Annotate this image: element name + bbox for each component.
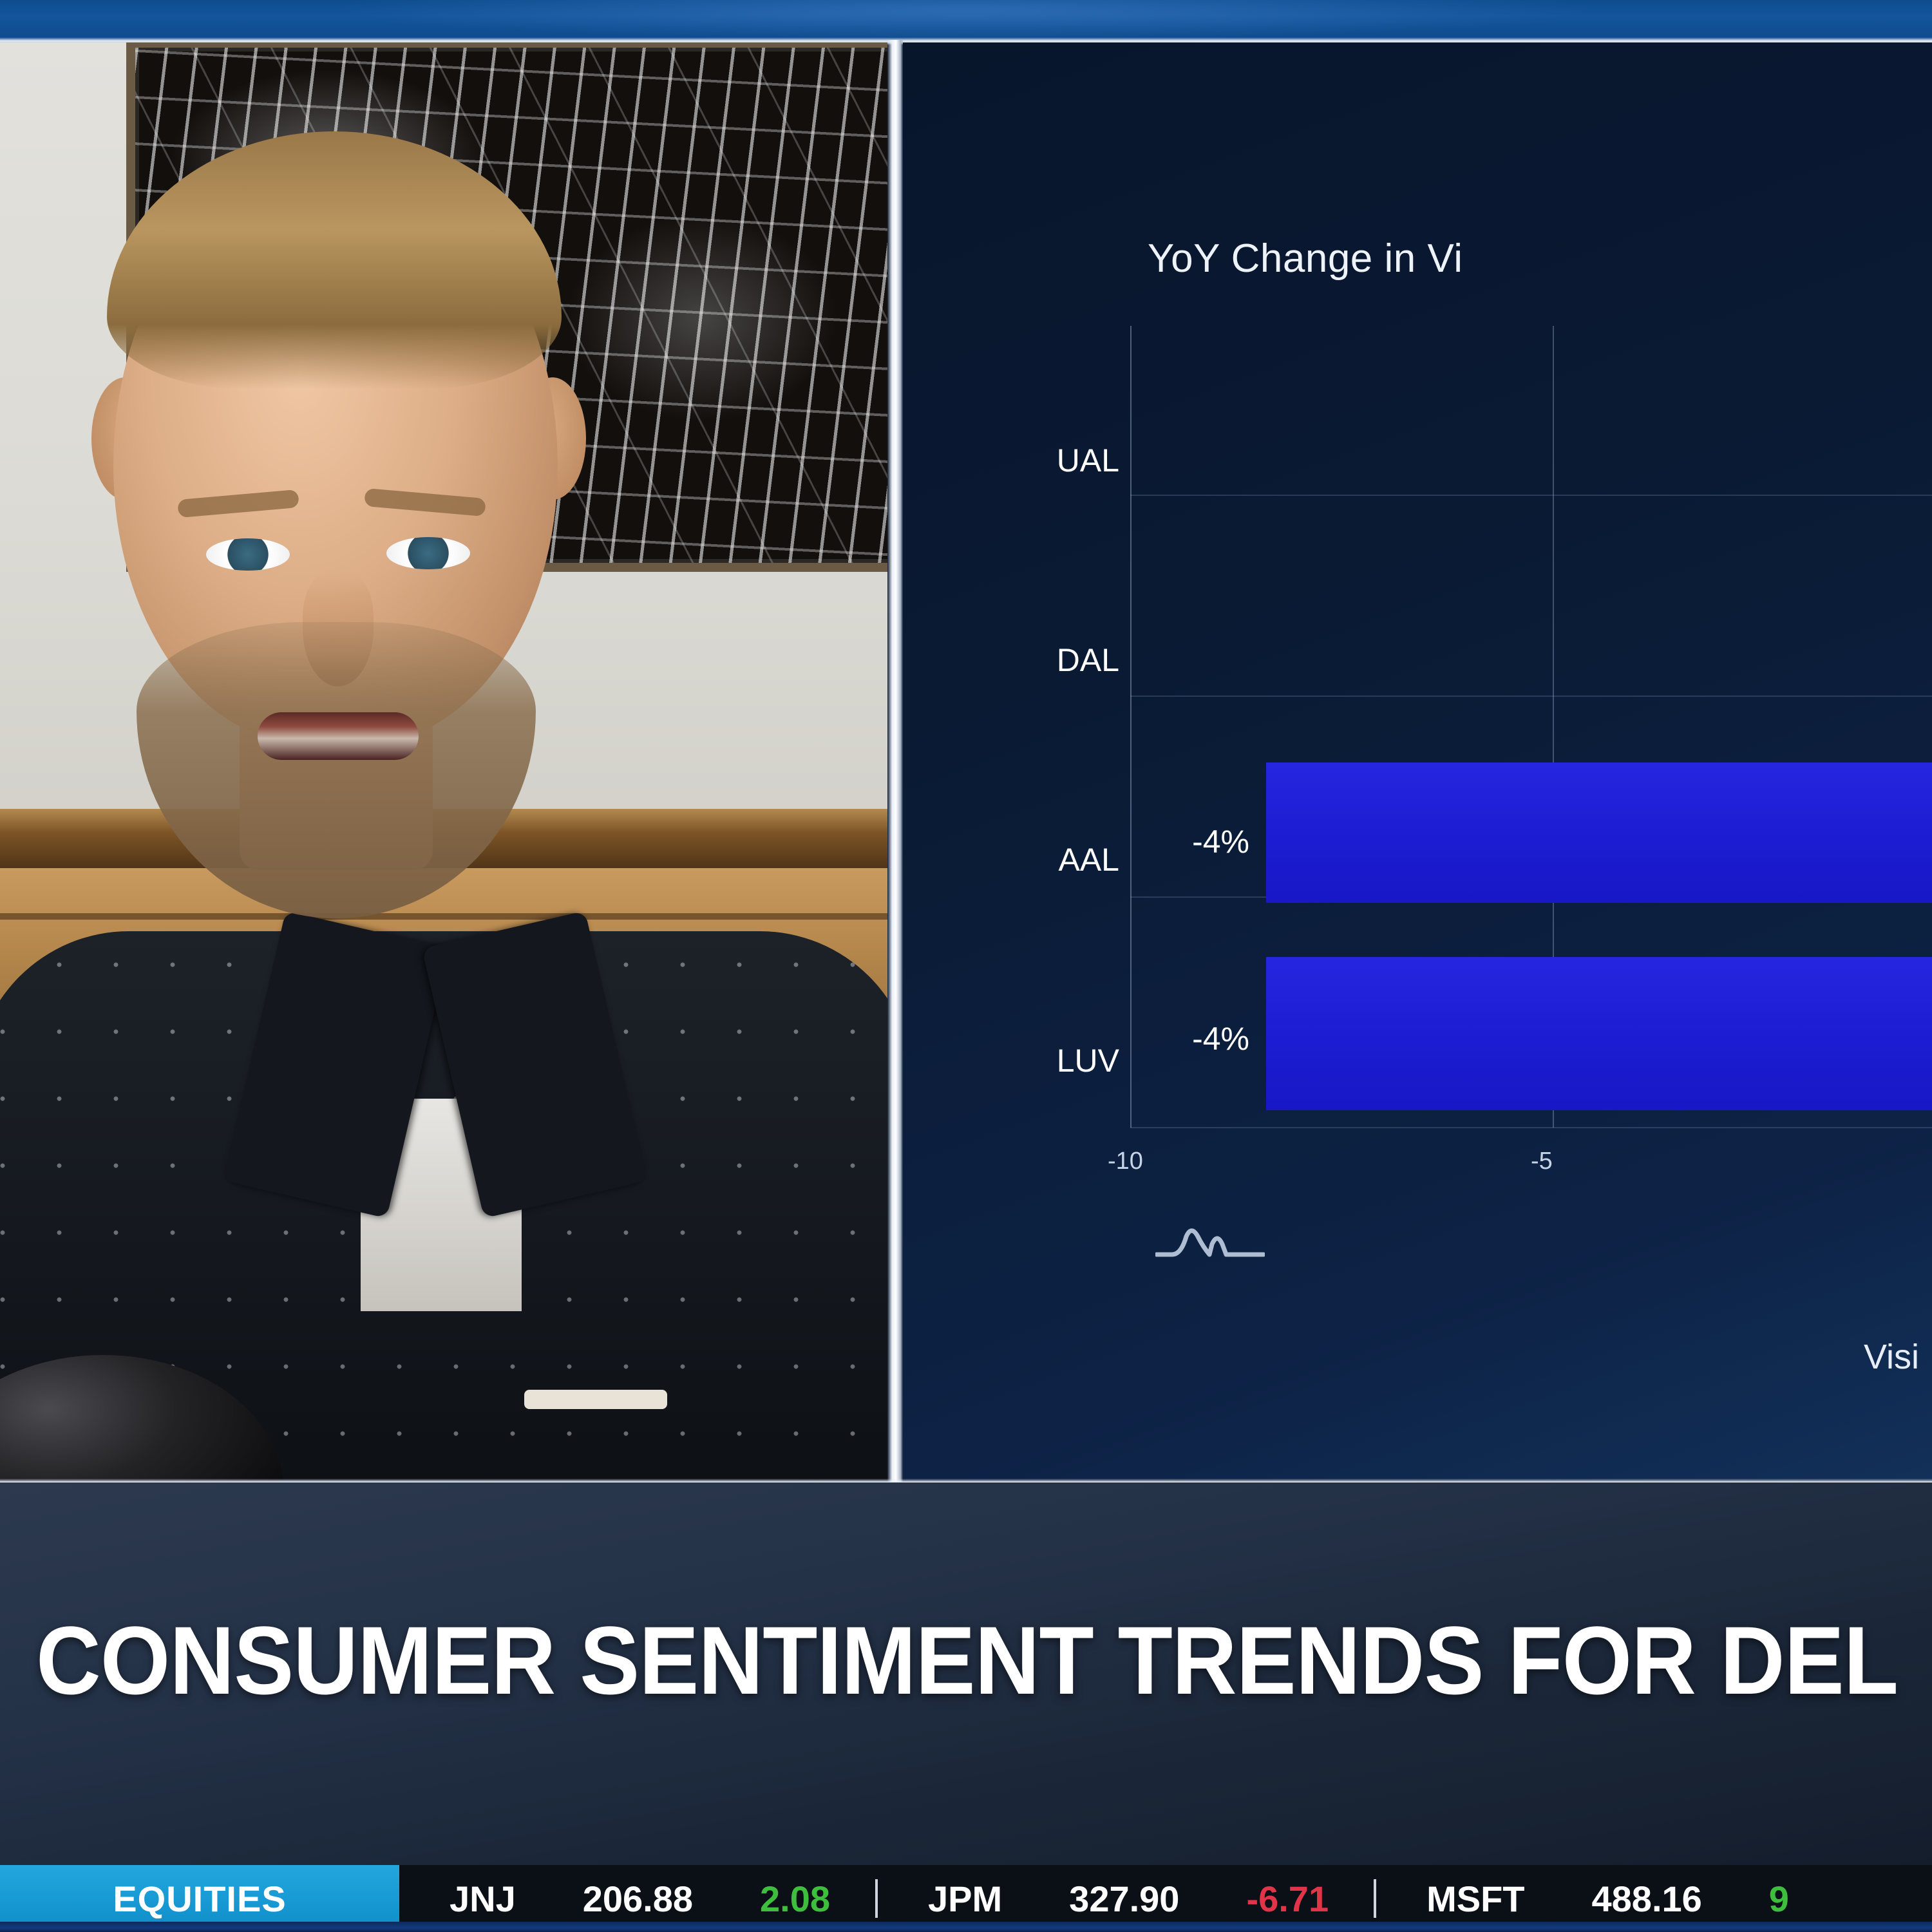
top-blue-band	[0, 0, 1932, 40]
chart-ylabel-ual: UAL	[903, 442, 1119, 479]
person-hair	[107, 131, 562, 389]
guest-video-feed	[0, 43, 887, 1480]
ticker-symbol: MSFT	[1426, 1878, 1524, 1920]
chart-bar-aal	[1266, 762, 1932, 903]
chart-graphic-panel: YoY Change in Vi UAL DAL AAL LUV -4% -4%…	[903, 43, 1932, 1480]
chart-xtick--10: -10	[1108, 1148, 1143, 1175]
chart-value-label-aal: -4%	[1030, 823, 1249, 860]
chart-xtick--5: -5	[1531, 1148, 1553, 1175]
headline-text: CONSUMER SENTIMENT TRENDS FOR DEL	[36, 1605, 1898, 1716]
chart-bar-luv	[1266, 957, 1932, 1110]
chart-ylabel-dal: DAL	[903, 641, 1119, 679]
guest-person	[0, 43, 887, 1480]
ticker-change: 9	[1769, 1878, 1789, 1920]
waveform-logo-icon	[1155, 1221, 1265, 1266]
chart-title: YoY Change in Vi	[1148, 236, 1463, 281]
ticker-price: 488.16	[1592, 1878, 1702, 1920]
broadcast-screen: YoY Change in Vi UAL DAL AAL LUV -4% -4%…	[0, 0, 1932, 1932]
top-band-highlight	[0, 0, 1932, 40]
chart-gridline-row-2	[1130, 696, 1932, 697]
ticker-symbol: JPM	[928, 1878, 1002, 1920]
ticker-category-label: EQUITIES	[113, 1878, 286, 1920]
ticker-price: 327.90	[1069, 1878, 1179, 1920]
chart-axis-bottom	[1130, 1127, 1932, 1128]
person-eye-left	[206, 538, 290, 571]
person-beard	[137, 622, 536, 918]
ticker-change: -6.71	[1246, 1878, 1329, 1920]
chart-footnote: Visi	[1864, 1337, 1919, 1377]
person-mouth	[258, 712, 419, 760]
chart-gridline-row-1	[1130, 495, 1932, 496]
person-teeth	[524, 1390, 667, 1409]
chart-axis-left	[1130, 326, 1132, 1128]
ticker-price: 206.88	[583, 1878, 693, 1920]
chart-value-label-luv: -4%	[1030, 1020, 1249, 1057]
ticker-change: 2.08	[760, 1878, 830, 1920]
ticker-symbol: JNJ	[450, 1878, 516, 1920]
person-eye-right	[386, 537, 470, 569]
ticker-underline	[0, 1922, 1932, 1932]
pane-divider	[887, 40, 903, 1482]
